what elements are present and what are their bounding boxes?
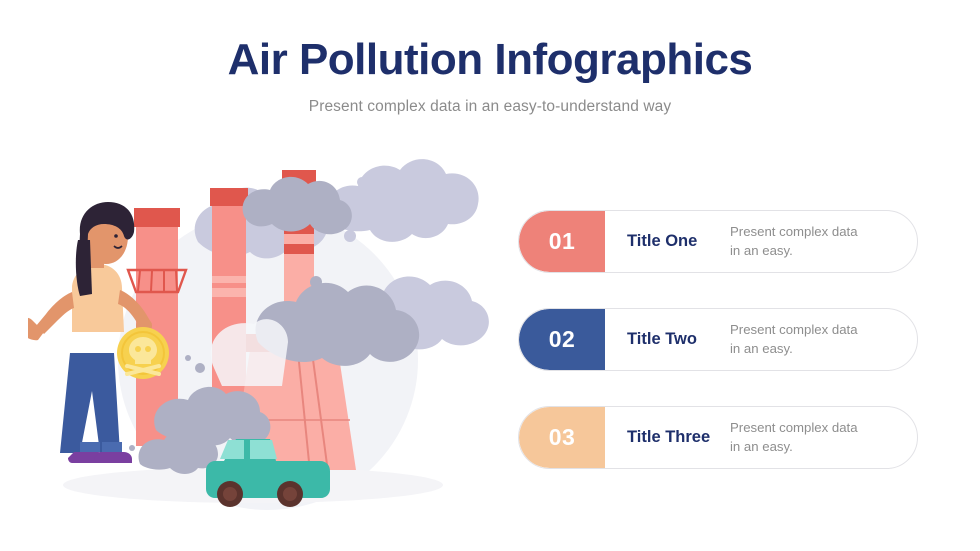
card-description-line-2: in an easy. [730, 242, 899, 261]
info-card-01[interactable]: 01 Title One Present complex data in an … [518, 210, 918, 273]
card-number-badge-01: 01 [519, 211, 605, 272]
card-description-03: Present complex data in an easy. [730, 419, 917, 456]
card-description-line-2: in an easy. [730, 438, 899, 457]
slide-root: Air Pollution Infographics Present compl… [0, 0, 980, 551]
card-number-badge-02: 02 [519, 309, 605, 370]
page-subtitle: Present complex data in an easy-to-under… [0, 98, 980, 116]
info-card-02[interactable]: 02 Title Two Present complex data in an … [518, 308, 918, 371]
card-description-line-1: Present complex data [730, 223, 899, 242]
air-pollution-illustration [28, 130, 498, 540]
page-title: Air Pollution Infographics [0, 36, 980, 84]
slide-header: Air Pollution Infographics Present compl… [0, 36, 980, 116]
card-title-01: Title One [605, 232, 730, 251]
card-description-01: Present complex data in an easy. [730, 223, 917, 260]
card-number-badge-03: 03 [519, 407, 605, 468]
card-title-03: Title Three [605, 428, 730, 447]
card-title-02: Title Two [605, 330, 730, 349]
info-card-list: 01 Title One Present complex data in an … [518, 210, 918, 469]
info-card-03[interactable]: 03 Title Three Present complex data in a… [518, 406, 918, 469]
card-description-02: Present complex data in an easy. [730, 321, 917, 358]
card-description-line-1: Present complex data [730, 321, 899, 340]
toxic-skull-badge [117, 327, 169, 379]
card-description-line-1: Present complex data [730, 419, 899, 438]
card-description-line-2: in an easy. [730, 340, 899, 359]
